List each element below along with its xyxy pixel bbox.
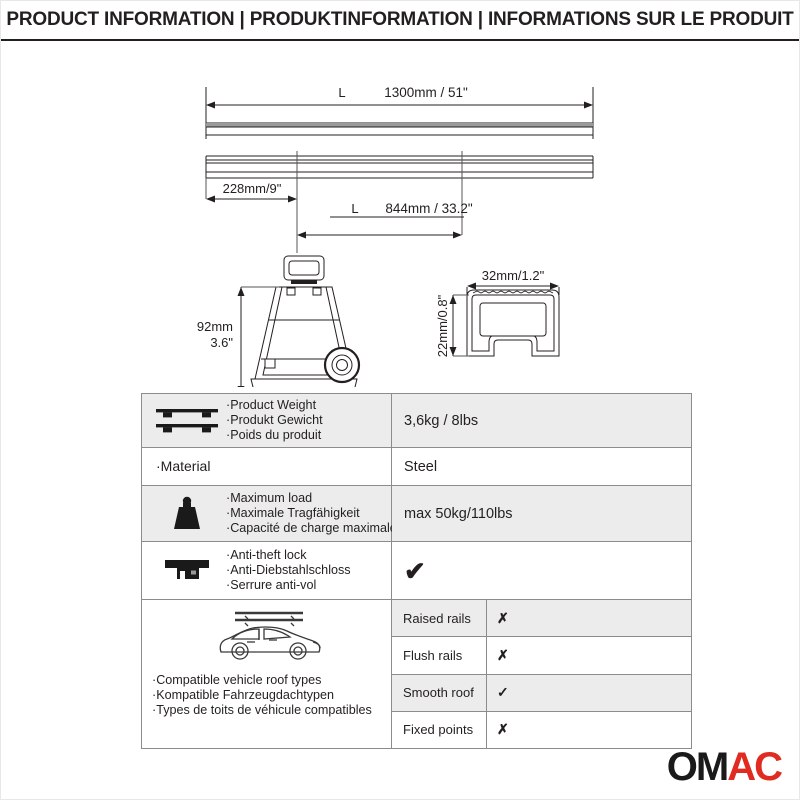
list-item: Fixed points ✗ [392, 712, 691, 748]
spec-label-line: ·Capacité de charge maximale [226, 521, 397, 536]
roof-type-mark: ✓ [487, 675, 691, 711]
roof-type-name: Flush rails [392, 637, 487, 673]
table-row: ·Maximum load ·Maximale Tragfähigkeit ·C… [142, 486, 691, 542]
table-row: ·Product Weight ·Produkt Gewicht ·Poids … [142, 394, 691, 448]
car-with-rack-icon [207, 606, 327, 669]
list-item: Flush rails ✗ [392, 637, 691, 674]
table-row: ·Compatible vehicle roof types ·Kompatib… [142, 600, 691, 748]
crossbar-top-view [206, 123, 593, 135]
logo-text-ac: AC [727, 745, 781, 789]
spec-label-line: ·Poids du produit [226, 428, 323, 443]
roof-type-mark: ✗ [487, 712, 691, 748]
spec-label-line: ·Compatible vehicle roof types [152, 673, 372, 688]
weight-icon [148, 494, 226, 534]
drawing-svg: L 1300mm / 51" 228mm/9" L 844mm / 33.2" … [1, 39, 800, 387]
product-information-page: PRODUCT INFORMATION | PRODUKTINFORMATION… [0, 0, 800, 800]
dimension-span [297, 217, 464, 239]
page-title: PRODUCT INFORMATION | PRODUKTINFORMATION… [6, 9, 793, 31]
spec-label-line: ·Serrure anti-vol [226, 578, 351, 593]
label-profile-width: 32mm/1.2" [482, 268, 545, 283]
label-span-prefix: L [351, 201, 358, 216]
car-with-rack-icon-svg [207, 606, 327, 664]
label-foot-height-mm: 92mm [197, 319, 233, 334]
list-item: Smooth roof ✓ [392, 675, 691, 712]
spec-label-line: ·Material [156, 458, 210, 475]
foot-front-view [251, 256, 359, 387]
roof-type-name: Smooth roof [392, 675, 487, 711]
spec-label-text: ·Material [148, 458, 210, 475]
roof-type-name: Fixed points [392, 712, 487, 748]
spec-label-line: ·Product Weight [226, 398, 323, 413]
spec-value-max-load: max 50kg/110lbs [392, 486, 691, 541]
label-foot-height-in: 3.6" [210, 335, 233, 350]
spec-label-text: ·Compatible vehicle roof types ·Kompatib… [142, 673, 372, 718]
spec-label-line: ·Anti-theft lock [226, 548, 351, 563]
spec-label-cell: ·Anti-theft lock ·Anti-Diebstahlschloss … [142, 542, 392, 599]
spec-value-anti-theft-check: ✔ [392, 542, 691, 599]
profile-cross-section [467, 290, 559, 356]
spec-label-text: ·Product Weight ·Produkt Gewicht ·Poids … [226, 398, 323, 443]
spec-label-cell: ·Maximum load ·Maximale Tragfähigkeit ·C… [142, 486, 392, 541]
crossbar-plan-view [206, 156, 593, 178]
spec-value-material: Steel [392, 448, 691, 485]
spec-label-text: ·Maximum load ·Maximale Tragfähigkeit ·C… [226, 491, 397, 536]
spec-label-cell: ·Material [142, 448, 392, 485]
spec-label-line: ·Maximale Tragfähigkeit [226, 506, 397, 521]
lock-icon [148, 554, 226, 588]
label-profile-height: 22mm/0.8" [435, 294, 450, 357]
spec-value-weight: 3,6kg / 8lbs [392, 394, 691, 447]
label-total-length-prefix: L [338, 85, 345, 100]
roof-type-mark: ✗ [487, 600, 691, 636]
table-row: ·Material Steel [142, 448, 691, 486]
spec-label-text: ·Anti-theft lock ·Anti-Diebstahlschloss … [226, 548, 351, 593]
dimension-end-offset [206, 196, 297, 203]
page-header: PRODUCT INFORMATION | PRODUKTINFORMATION… [1, 1, 799, 41]
spec-label-line: ·Produkt Gewicht [226, 413, 323, 428]
table-row: ·Anti-theft lock ·Anti-Diebstahlschloss … [142, 542, 691, 600]
label-end-offset: 228mm/9" [223, 181, 282, 196]
spec-label-cell: ·Compatible vehicle roof types ·Kompatib… [142, 600, 392, 748]
dimension-profile-height [450, 295, 470, 356]
roof-type-list: Raised rails ✗ Flush rails ✗ Smooth roof… [392, 600, 691, 748]
lock-icon-svg [161, 554, 213, 588]
crossbars-icon-svg [154, 404, 220, 438]
crossbars-icon [148, 404, 226, 438]
roof-type-name: Raised rails [392, 600, 487, 636]
spec-label-cell: ·Product Weight ·Produkt Gewicht ·Poids … [142, 394, 392, 447]
roof-type-mark: ✗ [487, 637, 691, 673]
technical-drawing: L 1300mm / 51" 228mm/9" L 844mm / 33.2" … [1, 39, 800, 387]
logo-text-om: OM [667, 745, 727, 789]
weight-icon-svg [167, 494, 207, 534]
spec-label-line: ·Maximum load [226, 491, 397, 506]
omac-logo: OMAC [667, 747, 781, 787]
spec-label-line: ·Anti-Diebstahlschloss [226, 563, 351, 578]
list-item: Raised rails ✗ [392, 600, 691, 637]
spec-label-line: ·Types de toits de véhicule compatibles [152, 703, 372, 718]
label-span: 844mm / 33.2" [385, 201, 473, 216]
spec-label-line: ·Kompatible Fahrzeugdachtypen [152, 688, 372, 703]
specification-table: ·Product Weight ·Produkt Gewicht ·Poids … [141, 393, 692, 749]
label-total-length: 1300mm / 51" [384, 85, 468, 100]
